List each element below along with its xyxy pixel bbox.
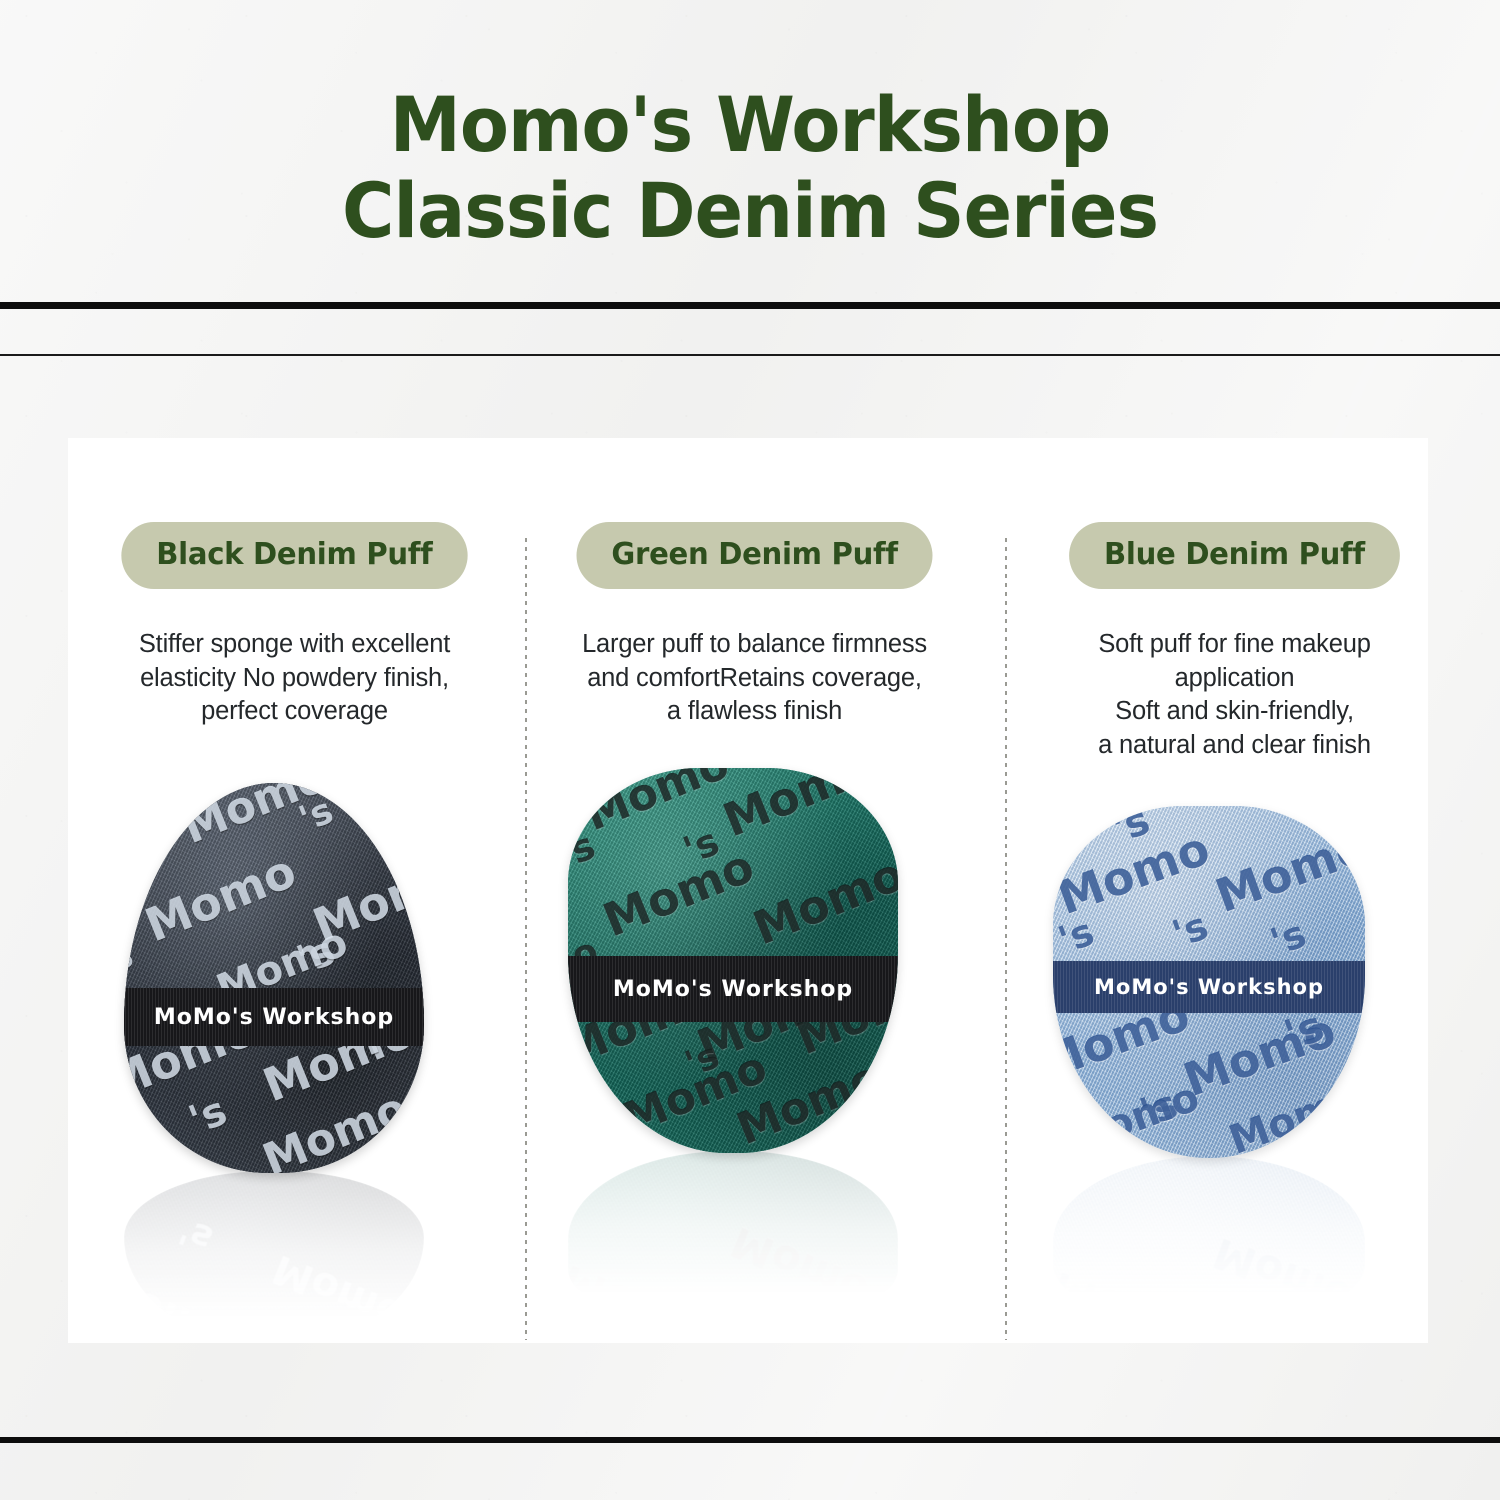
badge-container: Black Denim Puff [68,522,521,589]
product-column-black-denim-puff[interactable]: Black Denim Puff Stiffer sponge with exc… [68,438,521,1343]
product-image-green: Momo Momo 's Momo Momo Momo Momo 's 's M… [528,768,981,1328]
product-reflection-black: Momo 's Momo Momo 's Momo Momo 's [124,1171,424,1346]
footer-divider [0,1437,1500,1443]
brand-pattern-reflection-black: Momo 's Momo Momo 's Momo Momo 's [124,1171,424,1346]
black-denim-puff: Momo 's 's Momo Momo 's 's Momo Momo Mom… [124,783,424,1173]
product-image-blue: Momo Momo 's Momo Momo 's Momo Momo 's '… [1008,768,1461,1328]
product-description-green: Larger puff to balance firmness and comf… [536,628,973,729]
product-column-green-denim-puff[interactable]: Green Denim Puff Larger puff to balance … [528,438,981,1343]
product-description-black: Stiffer sponge with excellent elasticity… [76,628,513,729]
header: Momo's Workshop Classic Denim Series [0,0,1500,307]
product-description-blue: Soft puff for fine makeup application So… [1016,628,1453,762]
brand-band-black: MoMo's Workshop [124,988,424,1046]
brand-band-blue: MoMo's Workshop [1053,961,1365,1013]
product-reflection-blue: Momo Momo 's Momo Momo [1053,1156,1365,1321]
product-comparison-card: Black Denim Puff Stiffer sponge with exc… [68,438,1428,1343]
brand-band-green: MoMo's Workshop [568,956,898,1022]
product-badge-black: Black Denim Puff [121,522,467,589]
product-badge-green: Green Denim Puff [576,522,932,589]
product-column-blue-denim-puff[interactable]: Blue Denim Puff Soft puff for fine makeu… [1008,438,1461,1343]
badge-container: Blue Denim Puff [1008,522,1461,589]
header-divider-thin [0,354,1500,356]
header-divider-thick [0,302,1500,309]
black-denim-texture [124,783,424,1173]
product-badge-blue: Blue Denim Puff [1069,522,1400,589]
green-denim-puff: Momo Momo 's 's Momo Momo Mo 's 's Momo … [568,768,898,1153]
product-reflection-green: Momo Momo 's Momo Momo [568,1151,898,1321]
column-divider-1 [525,538,527,1340]
blue-denim-puff: 's Momo Momo 's 's 's Momo Momo 's 's Mo… [1053,806,1365,1158]
column-divider-2 [1005,538,1007,1340]
brand-pattern-reflection-green: Momo Momo 's Momo Momo [568,1151,898,1321]
product-image-black: Momo 's Momo Momo 's Momo Momo 's Momo '… [68,768,521,1328]
page-title: Momo's Workshop Classic Denim Series [45,82,1455,254]
brand-pattern-reflection-blue: Momo Momo 's Momo Momo [1053,1156,1365,1321]
badge-container: Green Denim Puff [528,522,981,589]
